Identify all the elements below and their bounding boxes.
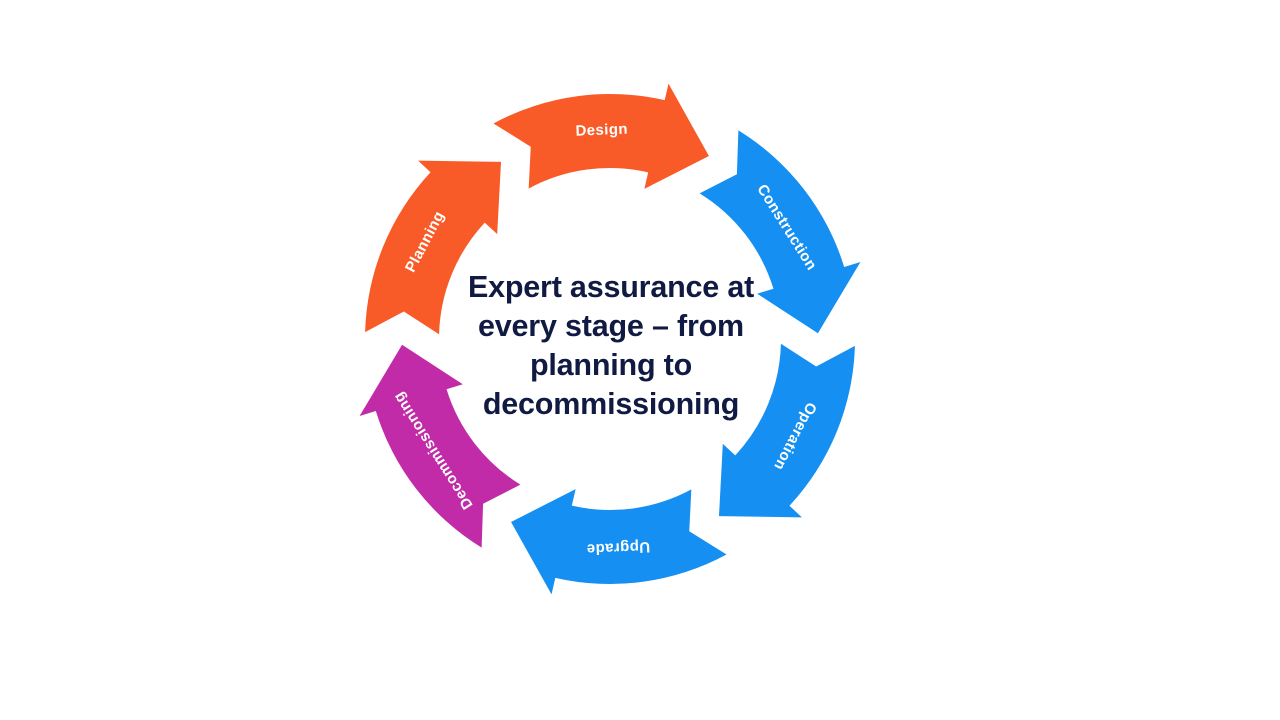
diagram-canvas: PlanningDesignConstructionOperationUpgra…: [0, 0, 1280, 720]
segment-label-upgrade: Upgrade: [586, 538, 650, 558]
center-headline: Expert assurance at every stage – from p…: [455, 268, 767, 424]
segment-label-design: Design: [575, 121, 628, 140]
